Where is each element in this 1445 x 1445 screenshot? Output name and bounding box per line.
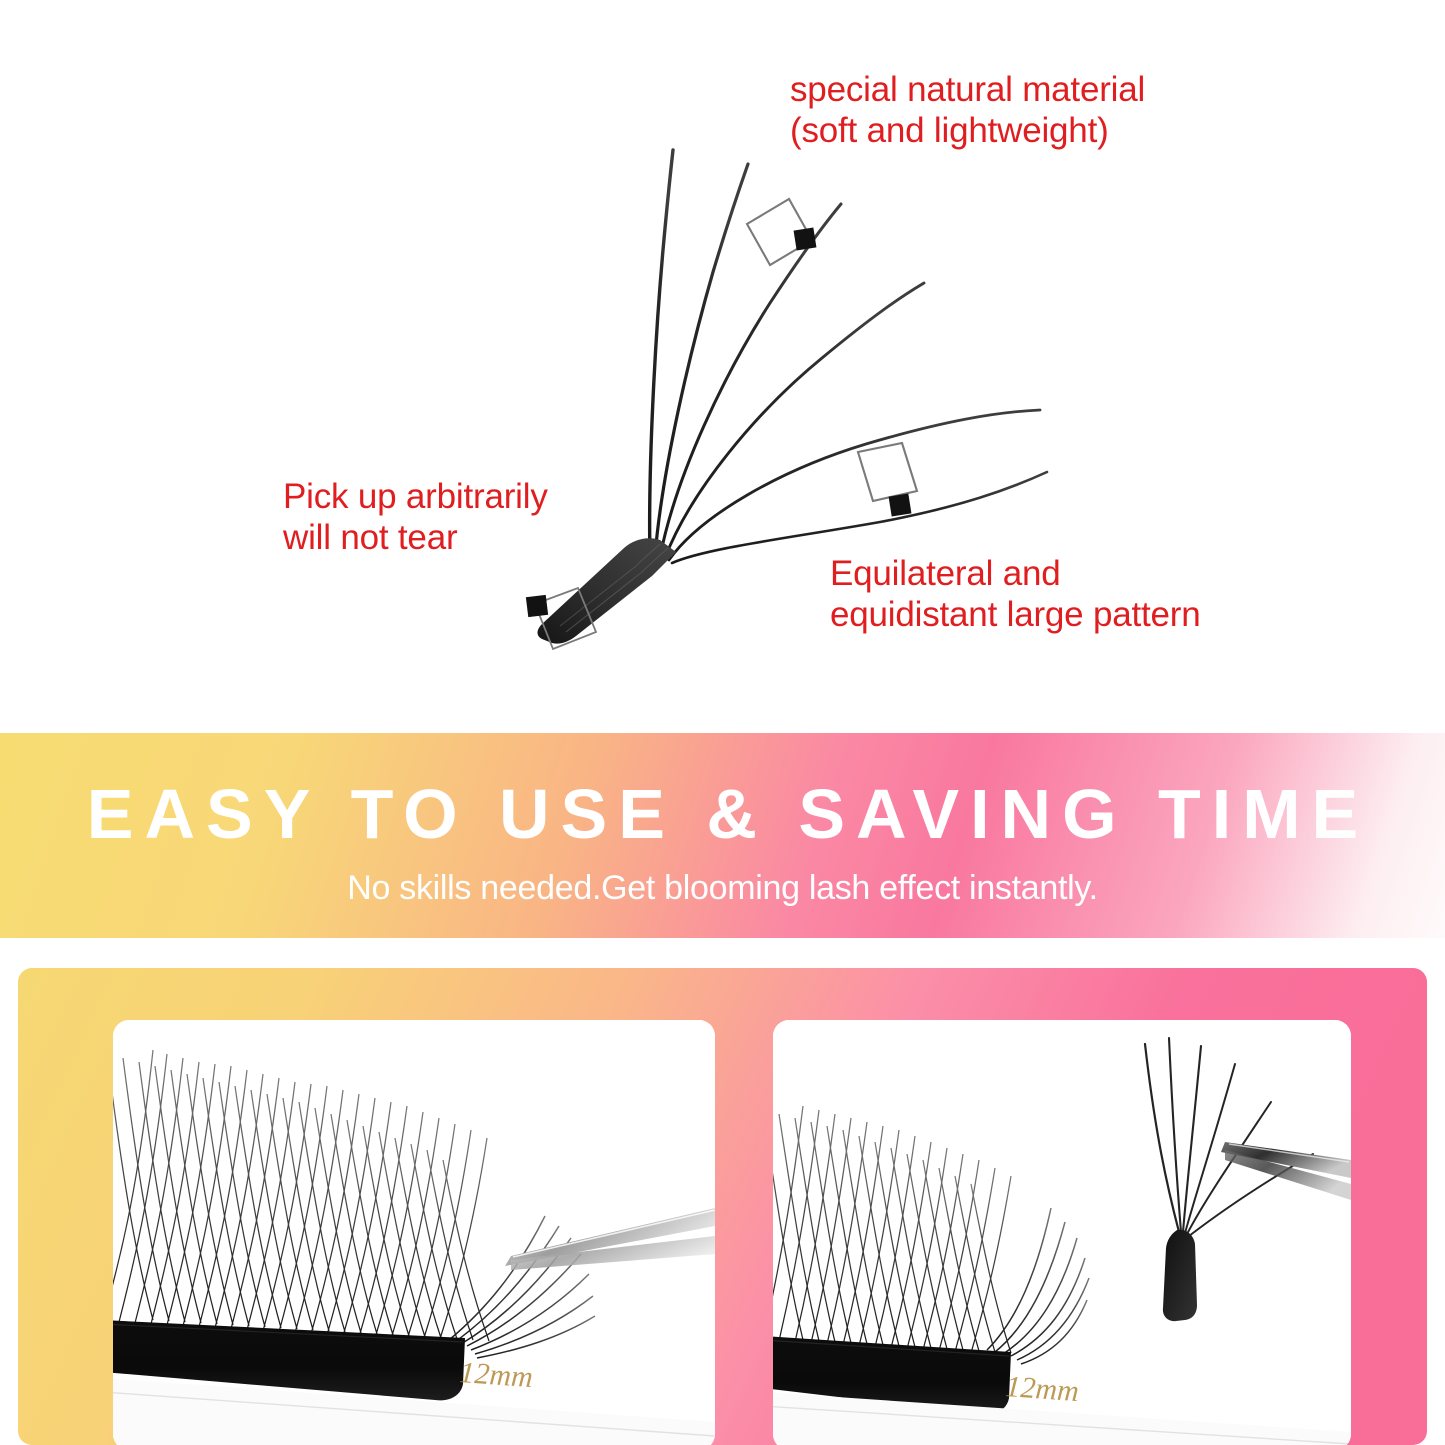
size-label-12mm-left: 12mm: [459, 1356, 534, 1394]
lash-base-ribbon: [538, 538, 677, 643]
lash-fan-photo: 12mm: [773, 1020, 1351, 1445]
photo-panel-lash-fan: 12mm: [773, 1020, 1351, 1445]
callout-special-natural-material: special natural material (soft and light…: [790, 70, 1145, 151]
callout-pick-up-arbitrarily: Pick up arbitrarily will not tear: [283, 477, 548, 558]
marker-square-upper: [747, 199, 816, 265]
lash-fan-illustration: [0, 0, 1445, 733]
marker-square-middle: [858, 443, 917, 516]
lash-fibers: [650, 150, 1047, 563]
banner-headline: EASY TO USE & SAVING TIME: [0, 779, 1445, 849]
product-photos-section: 12mm: [0, 938, 1445, 1445]
promo-banner-section: EASY TO USE & SAVING TIME No skills need…: [0, 733, 1445, 938]
photo-gradient-frame: 12mm: [18, 968, 1427, 1445]
size-label-12mm-right: 12mm: [1005, 1370, 1080, 1408]
banner-subtitle: No skills needed.Get blooming lash effec…: [0, 869, 1445, 908]
photo-panel-lash-tray: 12mm: [113, 1020, 715, 1445]
lash-tray-photo: 12mm: [113, 1020, 715, 1445]
lash-fan-diagram-section: special natural material (soft and light…: [0, 0, 1445, 733]
callout-equilateral-equidistant: Equilateral and equidistant large patter…: [830, 554, 1201, 635]
